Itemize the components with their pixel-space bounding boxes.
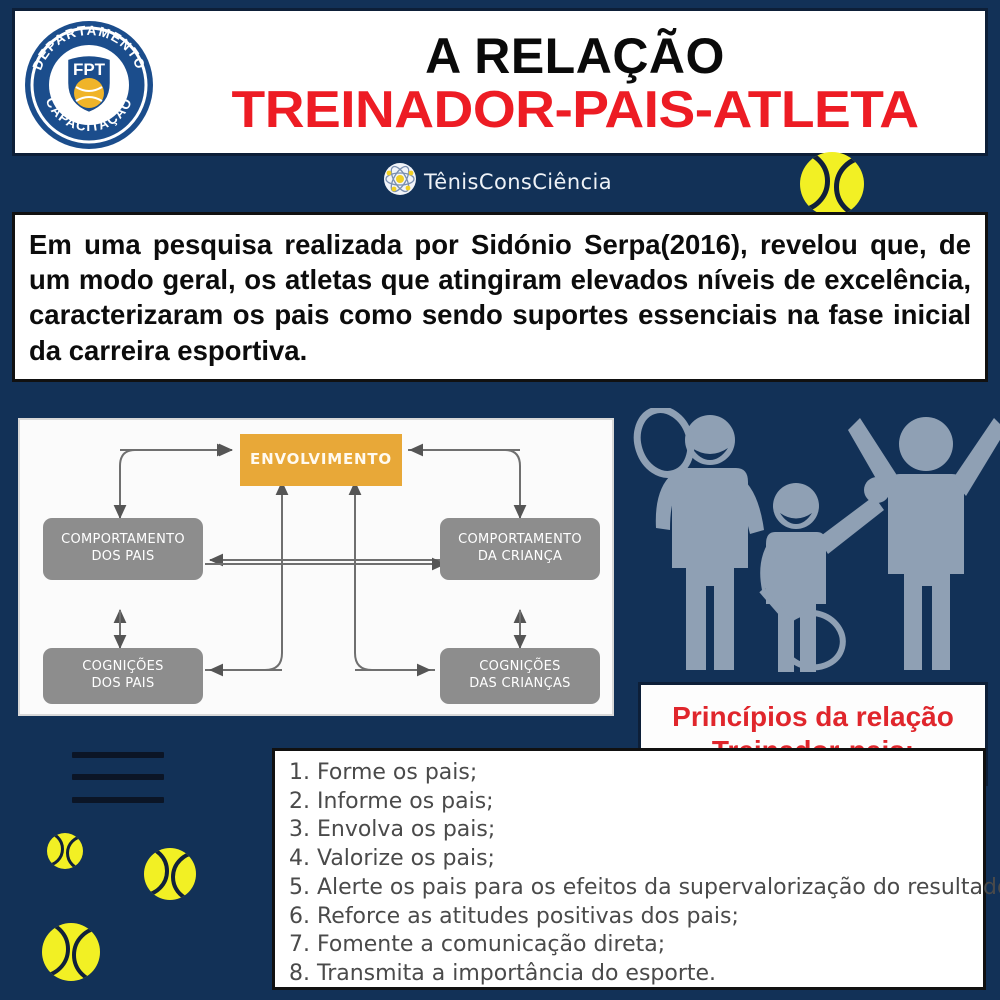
list-item: 7. Fomente a comunicação direta; <box>289 931 973 960</box>
brand-mark: TênisConsCiência <box>383 162 612 201</box>
list-item: 5. Alerte os pais para os efeitos da sup… <box>289 874 973 903</box>
principles-list-box: 1. Forme os pais; 2. Informe os pais; 3.… <box>272 748 986 990</box>
ball-seam <box>72 926 100 981</box>
node-label: ENVOLVIMENTO <box>250 450 392 469</box>
decor-line <box>72 797 164 803</box>
brand-name: TênisConsCiência <box>424 170 612 194</box>
cheering-person-arms-raised-silhouette <box>848 417 1000 670</box>
fpt-department-seal-icon: DEPARTAMENTO CAPACITAÇÃO FPT <box>21 17 157 153</box>
ball-seam <box>171 851 196 900</box>
decor-line <box>72 752 164 758</box>
tennis-ball-icon <box>42 923 100 981</box>
diagram-node-comportamento-da-crianca: COMPORTAMENTO DA CRIANÇA <box>440 518 600 580</box>
research-quote-box: Em uma pesquisa realizada por Sidónio Se… <box>12 212 988 382</box>
involvement-model-diagram: ENVOLVIMENTO COMPORTAMENTO DOS PAIS COMP… <box>18 418 614 716</box>
header-banner: DEPARTAMENTO CAPACITAÇÃO FPT A RELAÇÃO T… <box>12 8 988 156</box>
research-quote-text: Em uma pesquisa realizada por Sidónio Se… <box>29 227 971 368</box>
list-item: 2. Informe os pais; <box>289 788 973 817</box>
node-label-line2: DAS CRIANÇAS <box>469 676 570 693</box>
page-title-line1: A RELAÇÃO <box>425 30 725 83</box>
list-item: 1. Forme os pais; <box>289 759 973 788</box>
svg-text:FPT: FPT <box>73 60 106 79</box>
diagram-node-cognicoes-das-criancas: COGNIÇÕES DAS CRIANÇAS <box>440 648 600 704</box>
diagram-node-cognicoes-dos-pais: COGNIÇÕES DOS PAIS <box>43 648 203 704</box>
page-title-line2: TREINADOR-PAIS-ATLETA <box>231 83 918 138</box>
node-label-line1: COMPORTAMENTO <box>61 532 185 549</box>
diagram-node-envolvimento: ENVOLVIMENTO <box>240 434 402 486</box>
node-label-line2: DA CRIANÇA <box>478 549 562 566</box>
ball-seam <box>47 833 64 867</box>
ball-seam <box>834 155 864 216</box>
tennis-ball-icon <box>47 833 83 869</box>
node-label-line1: COMPORTAMENTO <box>458 532 582 549</box>
title-stack: A RELAÇÃO TREINADOR-PAIS-ATLETA <box>165 15 985 153</box>
tennis-ball-icon <box>800 152 864 216</box>
list-item: 3. Envolva os pais; <box>289 816 973 845</box>
seal-svg: DEPARTAMENTO CAPACITAÇÃO FPT <box>21 17 157 153</box>
node-label-line1: COGNIÇÕES <box>82 659 163 676</box>
coach-with-racket-silhouette <box>656 415 764 670</box>
node-label-line2: DOS PAIS <box>91 549 154 566</box>
ball-seam <box>66 835 83 869</box>
ball-seam <box>42 923 70 978</box>
list-item: 6. Reforce as atitudes positivas dos pai… <box>289 903 973 932</box>
infographic-page: DEPARTAMENTO CAPACITAÇÃO FPT A RELAÇÃO T… <box>0 0 1000 1000</box>
ball-seam <box>144 848 169 897</box>
family-tennis-illustration <box>622 408 1000 690</box>
node-label-line2: DOS PAIS <box>91 676 154 693</box>
list-item: 4. Valorize os pais; <box>289 845 973 874</box>
tennis-ball-icon <box>144 848 196 900</box>
principles-heading-line1: Princípios da relação <box>672 700 954 734</box>
node-label-line1: COGNIÇÕES <box>479 659 560 676</box>
diagram-node-comportamento-dos-pais: COMPORTAMENTO DOS PAIS <box>43 518 203 580</box>
ball-seam <box>800 152 830 213</box>
atom-logo-icon <box>383 162 417 201</box>
list-item: 8. Transmita a importância do esporte. <box>289 960 973 989</box>
decor-line <box>72 774 164 780</box>
